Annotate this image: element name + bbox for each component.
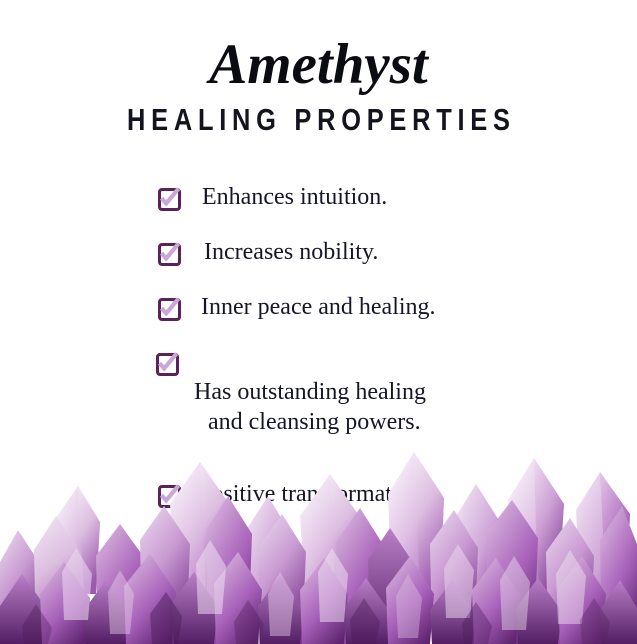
page-title: Amethyst: [0, 34, 637, 96]
checkbox-checked-icon: [155, 351, 179, 375]
page-subtitle: HEALING PROPERTIES: [57, 102, 579, 138]
checkbox-checked-icon: [157, 241, 181, 265]
list-item-label: Has outstanding healing: [194, 379, 426, 405]
list-item: Inner peace and healing.: [0, 292, 637, 322]
amethyst-crystal-cluster-image: [0, 444, 637, 644]
checkbox-checked-icon: [157, 186, 181, 210]
checkbox-checked-icon: [157, 296, 181, 320]
list-item: Enhances intuition.: [0, 182, 637, 212]
list-item-label-line2: and cleansing powers.: [194, 407, 426, 437]
list-item-label: Increases nobility.: [204, 237, 378, 267]
list-item: Increases nobility.: [0, 237, 637, 267]
poster-header: Amethyst HEALING PROPERTIES: [0, 34, 637, 138]
amethyst-poster: Amethyst HEALING PROPERTIES Enhances int…: [0, 0, 637, 644]
list-item-label: Enhances intuition.: [202, 182, 387, 212]
list-item-label: Inner peace and healing.: [201, 292, 436, 322]
